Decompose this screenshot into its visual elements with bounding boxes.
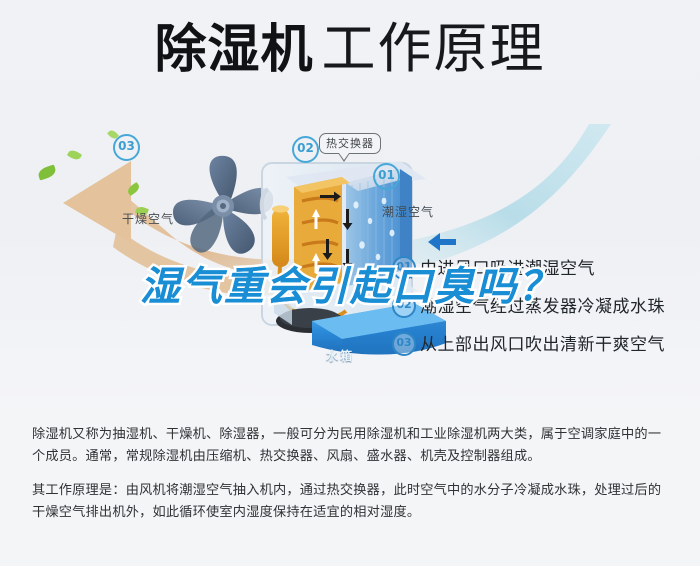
diagram-badge-03: 03 <box>113 134 140 161</box>
page-title-primary: 除湿机 <box>154 20 313 80</box>
description-paragraph-1: 除湿机又称为抽湿机、干燥机、除湿器，一般可分为民用除湿机和工业除湿机两大类，属于… <box>32 424 672 468</box>
diagram-badge-01: 01 <box>373 163 400 190</box>
page-title-secondary: 工作原理 <box>322 19 546 79</box>
moist-air-label: 潮湿空气 <box>382 203 434 220</box>
step-text: 从上部出风口吹出清新干爽空气 <box>420 330 665 355</box>
page-title: 除湿机工作原理 <box>0 22 700 76</box>
water-tank-label: 水箱 <box>326 347 354 364</box>
description-paragraph-2: 其工作原理是：由风机将潮湿空气抽入机内，通过热交换器，此时空气中的水分子冷凝成水… <box>32 480 672 524</box>
hero-diagram-panel: 除湿机工作原理 <box>0 0 700 408</box>
overlay-headline: 湿气重会引起口臭吗？ <box>0 266 700 308</box>
heat-exchanger-callout: 热交换器 <box>319 133 381 154</box>
step-badge: 03 <box>392 332 416 356</box>
dry-air-label: 干燥空气 <box>122 210 174 227</box>
list-item: 03 从上部出风口吹出清新干爽空气 <box>392 331 692 369</box>
infographic-page: 除湿机工作原理 <box>0 0 700 566</box>
diagram-badge-02: 02 <box>292 136 319 163</box>
description-panel: 除湿机又称为抽湿机、干燥机、除湿器，一般可分为民用除湿机和工业除湿机两大类，属于… <box>0 408 700 566</box>
